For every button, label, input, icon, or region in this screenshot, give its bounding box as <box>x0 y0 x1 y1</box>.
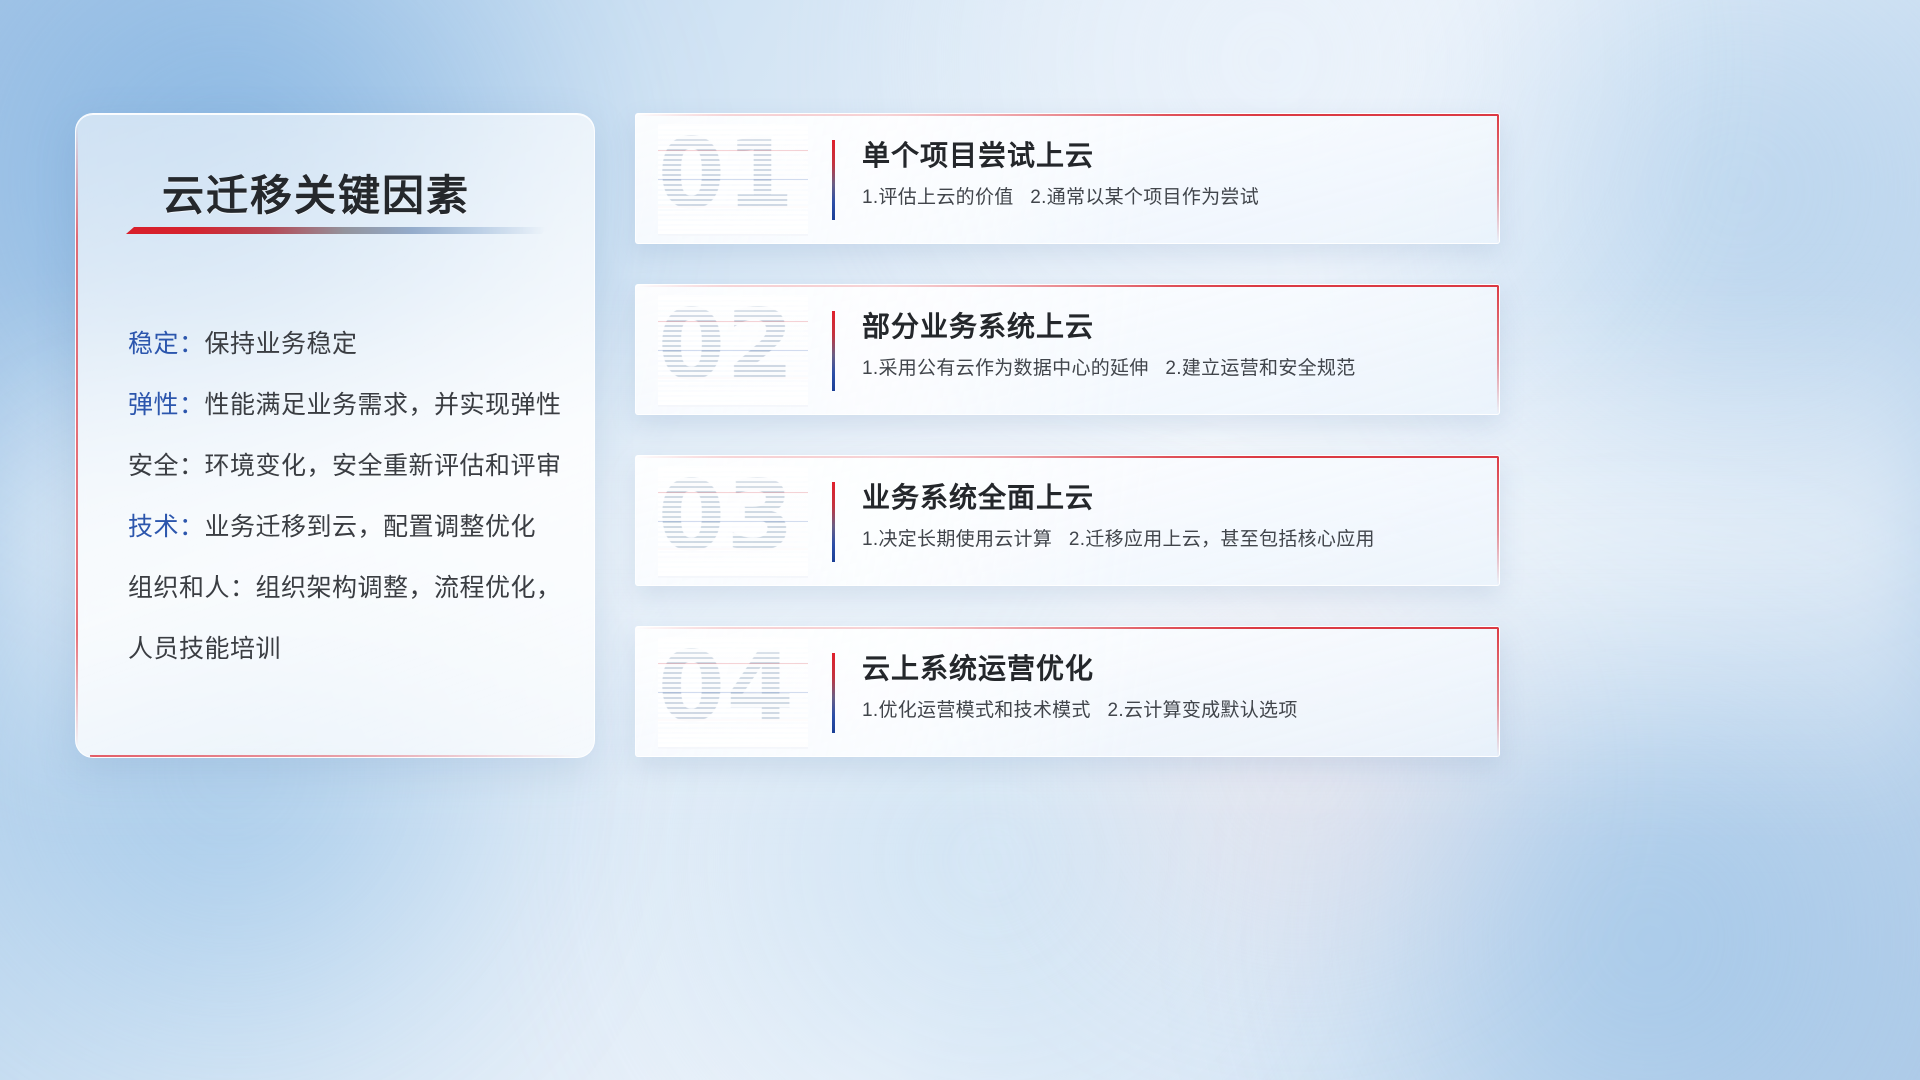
card-top-accent-line <box>636 285 1499 287</box>
stage-card[interactable]: 02部分业务系统上云1.采用公有云作为数据中心的延伸 2.建立运营和安全规范 <box>635 284 1500 415</box>
key-factor-row: 组织和人：组织架构调整，流程优化， <box>128 558 568 619</box>
stage-card[interactable]: 04云上系统运营优化1.优化运营模式和技术模式 2.云计算变成默认选项 <box>635 626 1500 757</box>
key-factor-text: 性能满足业务需求，并实现弹性 <box>205 391 562 419</box>
key-factors-panel: 云迁移关键因素 稳定：保持业务稳定弹性：性能满足业务需求，并实现弹性安全：环境变… <box>75 113 595 758</box>
stage-number: 01 <box>658 124 796 230</box>
card-title: 云上系统运营优化 <box>862 649 1469 689</box>
card-title: 单个项目尝试上云 <box>862 136 1469 176</box>
key-factor-label: 安全： <box>128 452 205 480</box>
card-right-accent-line <box>1497 456 1499 585</box>
maturity-stage-cards: 01单个项目尝试上云1.评估上云的价值 2.通常以某个项目作为尝试02部分业务系… <box>635 113 1500 797</box>
card-text-block: 部分业务系统上云1.采用公有云作为数据中心的延伸 2.建立运营和安全规范 <box>862 307 1469 382</box>
card-text-block: 业务系统全面上云1.决定长期使用云计算 2.迁移应用上云，甚至包括核心应用 <box>862 478 1469 553</box>
card-text-block: 单个项目尝试上云1.评估上云的价值 2.通常以某个项目作为尝试 <box>862 136 1469 211</box>
stage-number-graphic: 03 <box>658 466 808 578</box>
card-description: 1.评估上云的价值 2.通常以某个项目作为尝试 <box>862 185 1469 211</box>
key-factor-text: 组织架构调整，流程优化， <box>256 574 562 602</box>
card-description: 1.决定长期使用云计算 2.迁移应用上云，甚至包括核心应用 <box>862 527 1469 553</box>
card-right-accent-line <box>1497 285 1499 414</box>
card-divider-bar <box>832 311 835 391</box>
card-title: 业务系统全面上云 <box>862 478 1469 518</box>
card-description: 1.采用公有云作为数据中心的延伸 2.建立运营和安全规范 <box>862 356 1469 382</box>
key-factor-label: 组织和人： <box>128 574 256 602</box>
card-right-accent-line <box>1497 627 1499 756</box>
panel-left-accent-line <box>76 124 78 747</box>
stage-card[interactable]: 03业务系统全面上云1.决定长期使用云计算 2.迁移应用上云，甚至包括核心应用 <box>635 455 1500 586</box>
card-divider-bar <box>832 482 835 562</box>
key-factor-row: 弹性：性能满足业务需求，并实现弹性 <box>128 375 568 436</box>
card-description: 1.优化运营模式和技术模式 2.云计算变成默认选项 <box>862 698 1469 724</box>
key-factor-row: 技术：业务迁移到云，配置调整优化 <box>128 497 568 558</box>
key-factor-label: 技术： <box>128 513 205 541</box>
key-factors-list: 稳定：保持业务稳定弹性：性能满足业务需求，并实现弹性安全：环境变化，安全重新评估… <box>128 314 568 680</box>
slide-stage: 云迁移关键因素 稳定：保持业务稳定弹性：性能满足业务需求，并实现弹性安全：环境变… <box>0 0 1920 1080</box>
key-factor-text: 业务迁移到云，配置调整优化 <box>205 513 537 541</box>
stage-number: 02 <box>658 295 796 401</box>
card-title: 部分业务系统上云 <box>862 307 1469 347</box>
key-factor-label: 弹性： <box>128 391 205 419</box>
page-title: 云迁移关键因素 <box>162 162 470 223</box>
stage-number-graphic: 01 <box>658 124 808 236</box>
key-factor-text: 保持业务稳定 <box>205 330 358 358</box>
stage-number-graphic: 04 <box>658 637 808 749</box>
key-factor-label: 稳定： <box>128 330 205 358</box>
stage-number-graphic: 02 <box>658 295 808 407</box>
stage-number: 04 <box>658 637 796 743</box>
panel-bottom-accent-line <box>90 755 580 757</box>
card-text-block: 云上系统运营优化1.优化运营模式和技术模式 2.云计算变成默认选项 <box>862 649 1469 724</box>
card-divider-bar <box>832 140 835 220</box>
stage-card[interactable]: 01单个项目尝试上云1.评估上云的价值 2.通常以某个项目作为尝试 <box>635 113 1500 244</box>
key-factor-text: 环境变化，安全重新评估和评审 <box>205 452 562 480</box>
title-underline-gradient <box>126 227 546 234</box>
card-right-accent-line <box>1497 114 1499 243</box>
card-top-accent-line <box>636 627 1499 629</box>
card-top-accent-line <box>636 114 1499 116</box>
key-factor-row: 安全：环境变化，安全重新评估和评审 <box>128 436 568 497</box>
stage-number: 03 <box>658 466 796 572</box>
card-divider-bar <box>832 653 835 733</box>
card-top-accent-line <box>636 456 1499 458</box>
key-factor-row: 人员技能培训 <box>128 619 568 680</box>
key-factor-row: 稳定：保持业务稳定 <box>128 314 568 375</box>
key-factor-text: 人员技能培训 <box>128 635 281 663</box>
